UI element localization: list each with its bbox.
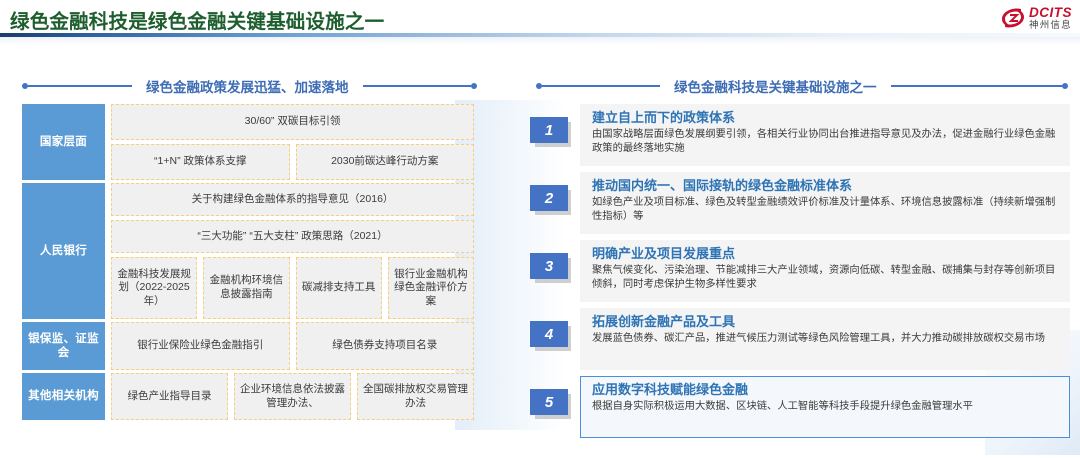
policy-category-label: 国家层面 <box>22 104 105 180</box>
key-point-desc: 由国家战略层面绿色发展纲要引领，各相关行业协同出台推进指导意见及办法，促进金融行… <box>592 128 1062 156</box>
key-point-badge: 2 <box>530 185 576 215</box>
policy-cells: 30/60” 双碳目标引领 “1+N” 政策体系支撑 2030前碳达峰行动方案 <box>105 104 474 180</box>
key-point-title: 推动国内统一、国际接轨的绿色金融标准体系 <box>592 178 1062 194</box>
table-row: 人民银行 关于构建绿色金融体系的指导意见（2016） “三大功能” “五大支柱”… <box>22 183 474 319</box>
key-point-title: 明确产业及项目发展重点 <box>592 246 1062 262</box>
key-point-text: 建立自上而下的政策体系 由国家战略层面绿色发展纲要引领，各相关行业协同出台推进指… <box>592 110 1062 157</box>
policy-cell-row: 银行业保险业绿色金融指引 绿色债券支持项目名录 <box>111 322 474 370</box>
section-header-left: 绿色金融政策发展迅猛、加速落地 <box>22 76 477 96</box>
policy-cell[interactable]: 关于构建绿色金融体系的指导意见（2016） <box>111 183 474 216</box>
section-header-right: 绿色金融科技是关键基础设施之一 <box>536 76 1068 96</box>
table-row: 国家层面 30/60” 双碳目标引领 “1+N” 政策体系支撑 2030前碳达峰… <box>22 104 474 180</box>
policy-category-label: 银保监、证监会 <box>22 322 105 370</box>
policy-cell[interactable]: 绿色产业指导目录 <box>111 373 228 420</box>
slide-canvas: 绿色金融科技是绿色金融关键基础设施之一 DCITS 神州信息 绿色金融政策发展迅… <box>0 0 1080 458</box>
header-line-left <box>28 85 132 87</box>
key-point-text: 拓展创新金融产品及工具 发展蓝色债券、碳汇产品，推进气候压力测试等绿色风险管理工… <box>592 314 1062 346</box>
section-header-right-label: 绿色金融科技是关键基础设施之一 <box>660 76 891 96</box>
policy-cell[interactable]: 碳减排支持工具 <box>296 257 382 319</box>
key-point-item[interactable]: 3 明确产业及项目发展重点 聚焦气候变化、污染治理、节能减排三大产业领域，资源向… <box>530 240 1070 302</box>
key-point-item-highlighted[interactable]: 5 应用数字科技赋能绿色金融 根据自身实际积极运用大数据、区块链、人工智能等科技… <box>530 376 1070 438</box>
policy-cell-row: 关于构建绿色金融体系的指导意见（2016） <box>111 183 474 216</box>
header-dot-left-2 <box>471 83 477 89</box>
key-point-badge: 3 <box>530 253 576 283</box>
policy-cell[interactable]: 银行业保险业绿色金融指引 <box>111 322 290 370</box>
badge-number: 2 <box>530 185 568 211</box>
policy-cell[interactable]: 银行业金融机构绿色金融评价方案 <box>388 257 474 319</box>
page-title: 绿色金融科技是绿色金融关键基础设施之一 <box>10 5 384 34</box>
key-point-desc: 发展蓝色债券、碳汇产品，推进气候压力测试等绿色风险管理工具，并大力推动碳排放碳权… <box>592 332 1062 346</box>
key-point-badge: 5 <box>530 389 576 419</box>
policy-cell[interactable]: “三大功能” “五大支柱” 政策思路（2021） <box>111 220 474 253</box>
badge-number: 3 <box>530 253 568 279</box>
policy-cell[interactable]: 金融机构环境信息披露指南 <box>203 257 289 319</box>
policy-cell[interactable]: 绿色债券支持项目名录 <box>296 322 475 370</box>
policy-cell[interactable]: 30/60” 双碳目标引领 <box>111 104 474 140</box>
key-point-title: 应用数字科技赋能绿色金融 <box>592 382 1062 398</box>
header-line-right-2 <box>891 85 1063 87</box>
policy-cell-row: “三大功能” “五大支柱” 政策思路（2021） <box>111 220 474 253</box>
table-row: 其他相关机构 绿色产业指导目录 企业环境信息依法披露管理办法、 全国碳排放权交易… <box>22 373 474 420</box>
policy-cell[interactable]: “1+N” 政策体系支撑 <box>111 144 290 180</box>
key-point-text: 明确产业及项目发展重点 聚焦气候变化、污染治理、节能减排三大产业领域，资源向低碳… <box>592 246 1062 293</box>
badge-number: 5 <box>530 389 568 415</box>
key-point-text: 推动国内统一、国际接轨的绿色金融标准体系 如绿色产业及项目标准、绿色及转型金融绩… <box>592 178 1062 225</box>
policy-category-label: 人民银行 <box>22 183 105 319</box>
dcits-swirl-icon <box>1000 6 1026 30</box>
policy-cells: 关于构建绿色金融体系的指导意见（2016） “三大功能” “五大支柱” 政策思路… <box>105 183 474 319</box>
key-point-text: 应用数字科技赋能绿色金融 根据自身实际积极运用大数据、区块链、人工智能等科技手段… <box>592 382 1062 414</box>
key-points-list: 1 建立自上而下的政策体系 由国家战略层面绿色发展纲要引领，各相关行业协同出台推… <box>530 104 1070 444</box>
policy-cell-row: 金融科技发展规划（2022-2025年） 金融机构环境信息披露指南 碳减排支持工… <box>111 257 474 319</box>
key-point-badge: 1 <box>530 117 576 147</box>
badge-number: 1 <box>530 117 568 143</box>
title-divider-soft <box>0 37 1080 45</box>
policy-cell[interactable]: 全国碳排放权交易管理办法 <box>357 373 474 420</box>
header-dot-right-2 <box>1062 83 1068 89</box>
key-point-item[interactable]: 2 推动国内统一、国际接轨的绿色金融标准体系 如绿色产业及项目标准、绿色及转型金… <box>530 172 1070 234</box>
key-point-desc: 聚焦气候变化、污染治理、节能减排三大产业领域，资源向低碳、转型金融、碳捕集与封存… <box>592 264 1062 292</box>
header-line-left-2 <box>363 85 472 87</box>
table-row: 银保监、证监会 银行业保险业绿色金融指引 绿色债券支持项目名录 <box>22 322 474 370</box>
key-point-item[interactable]: 4 拓展创新金融产品及工具 发展蓝色债券、碳汇产品，推进气候压力测试等绿色风险管… <box>530 308 1070 370</box>
policy-cell-row: “1+N” 政策体系支撑 2030前碳达峰行动方案 <box>111 144 474 180</box>
policy-category-label: 其他相关机构 <box>22 373 105 420</box>
policy-cell[interactable]: 2030前碳达峰行动方案 <box>296 144 475 180</box>
policy-cells: 绿色产业指导目录 企业环境信息依法披露管理办法、 全国碳排放权交易管理办法 <box>105 373 474 420</box>
policy-cell-row: 绿色产业指导目录 企业环境信息依法披露管理办法、 全国碳排放权交易管理办法 <box>111 373 474 420</box>
badge-number: 4 <box>530 321 568 347</box>
header-line-right <box>542 85 660 87</box>
key-point-title: 建立自上而下的政策体系 <box>592 110 1062 126</box>
policy-cell-row: 30/60” 双碳目标引领 <box>111 104 474 140</box>
policy-cell[interactable]: 金融科技发展规划（2022-2025年） <box>111 257 197 319</box>
key-point-item[interactable]: 1 建立自上而下的政策体系 由国家战略层面绿色发展纲要引领，各相关行业协同出台推… <box>530 104 1070 166</box>
policy-table: 国家层面 30/60” 双碳目标引领 “1+N” 政策体系支撑 2030前碳达峰… <box>22 104 474 423</box>
key-point-badge: 4 <box>530 321 576 351</box>
title-bar: 绿色金融科技是绿色金融关键基础设施之一 <box>0 0 1080 37</box>
logo-text: DCITS 神州信息 <box>1029 6 1072 31</box>
key-point-desc: 根据自身实际积极运用大数据、区块链、人工智能等科技手段提升绿色金融管理水平 <box>592 400 1062 414</box>
policy-cells: 银行业保险业绿色金融指引 绿色债券支持项目名录 <box>105 322 474 370</box>
logo: DCITS 神州信息 <box>1000 3 1072 33</box>
logo-chinese: 神州信息 <box>1029 21 1072 31</box>
policy-cell[interactable]: 企业环境信息依法披露管理办法、 <box>234 373 351 420</box>
section-header-left-label: 绿色金融政策发展迅猛、加速落地 <box>132 76 363 96</box>
logo-english: DCITS <box>1029 6 1072 20</box>
key-point-title: 拓展创新金融产品及工具 <box>592 314 1062 330</box>
key-point-desc: 如绿色产业及项目标准、绿色及转型金融绩效评价标准及计量体系、环境信息披露标准（持… <box>592 196 1062 224</box>
